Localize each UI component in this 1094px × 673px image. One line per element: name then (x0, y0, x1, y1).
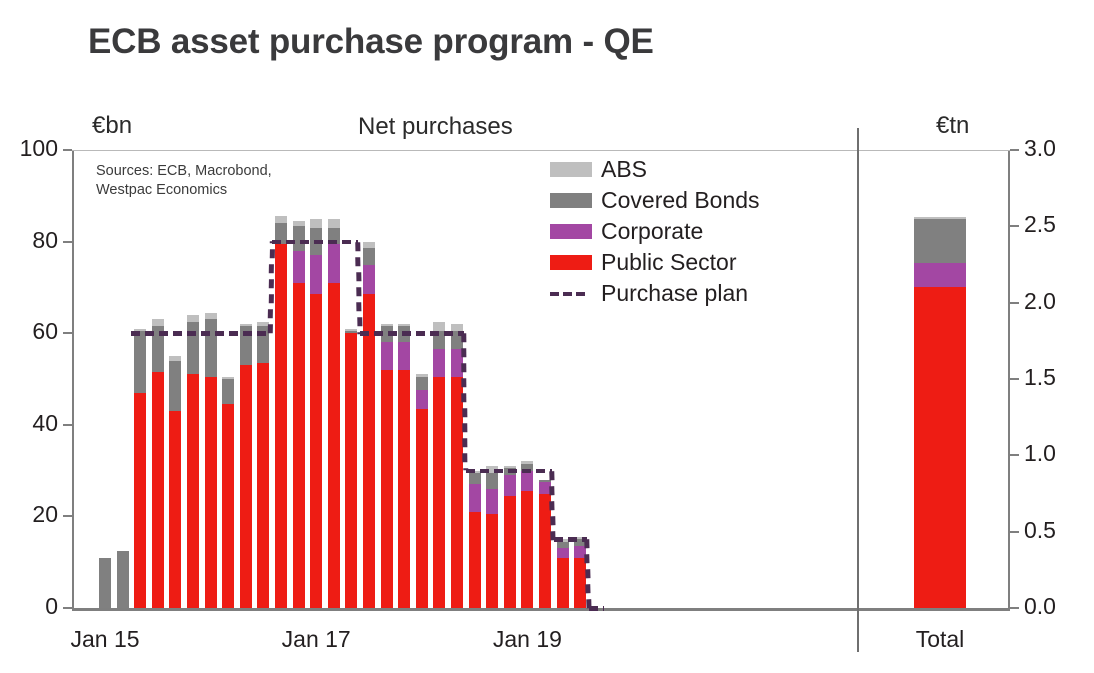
legend-item-abs: ABS (550, 154, 760, 185)
purchase-plan-dash (257, 331, 266, 336)
bar-segment-abs (222, 377, 234, 379)
bar-segment-corporate (310, 255, 322, 294)
bar-segment-corporate (293, 251, 305, 283)
bar-segment-corporate (328, 244, 340, 283)
purchase-plan-dash (173, 331, 182, 336)
bar-segment-public-sector (240, 365, 252, 608)
left-y-tick (63, 424, 72, 426)
bar-column (99, 558, 111, 608)
x-tick-label-total: Total (870, 626, 1010, 653)
bar-segment-public-sector (257, 363, 269, 608)
left-y-tick (63, 607, 72, 609)
bar-segment-public-sector (504, 496, 516, 608)
purchase-plan-dash (550, 501, 555, 510)
bar-segment-abs (363, 242, 375, 249)
bar-segment-abs (152, 319, 164, 326)
page-title: ECB asset purchase program - QE (88, 22, 654, 62)
bar-segment-abs (310, 219, 322, 228)
bar-segment-public-sector (521, 491, 533, 608)
bar-segment-covered-bonds (486, 473, 498, 489)
bar-segment-abs (187, 315, 199, 322)
bar-column (152, 319, 164, 608)
total-segment-abs (914, 217, 966, 219)
right-y-tick-label: 0.0 (1024, 593, 1084, 620)
chart-container: ECB asset purchase program - QE €bn Net … (0, 0, 1094, 673)
bar-column (539, 480, 551, 608)
bar-segment-public-sector (433, 377, 445, 608)
purchase-plan-dash (342, 240, 351, 245)
bar-column (222, 377, 234, 608)
legend-label-purchase-plan: Purchase plan (601, 282, 748, 305)
legend-item-purchase-plan: Purchase plan (550, 278, 760, 309)
right-y-tick (1010, 378, 1019, 380)
purchase-plan-dash (402, 331, 411, 336)
bar-segment-public-sector (152, 372, 164, 608)
total-segment-public-sector (914, 287, 966, 608)
purchase-plan-dash (549, 471, 554, 480)
bar-segment-abs (381, 324, 393, 326)
bar-segment-public-sector (275, 244, 287, 608)
purchase-plan-dash (568, 537, 577, 542)
bar-column (257, 322, 269, 608)
right-y-tick (1010, 149, 1019, 151)
purchase-plan-dash (268, 324, 273, 333)
left-y-tick-label: 40 (6, 410, 58, 437)
right-y-tick (1010, 454, 1019, 456)
bar-segment-corporate (469, 484, 481, 511)
purchase-plan-dash (360, 331, 369, 336)
left-y-tick (63, 515, 72, 517)
purchase-plan-dash (357, 302, 362, 311)
purchase-plan-dash (314, 240, 323, 245)
right-y-tick-label: 2.5 (1024, 211, 1084, 238)
bar-segment-covered-bonds (99, 558, 111, 608)
purchase-plan-dash (536, 469, 545, 474)
purchase-plan-dash (466, 469, 475, 474)
purchase-plan-dash (357, 317, 362, 326)
bar-column (521, 461, 533, 608)
purchase-plan-dash (586, 584, 591, 593)
bar-segment-abs (328, 219, 340, 228)
bar-segment-covered-bonds (169, 361, 181, 411)
bar-segment-corporate (398, 342, 410, 369)
bar-segment-public-sector (469, 512, 481, 608)
bar-column (275, 216, 287, 608)
purchase-plan-dash (243, 331, 252, 336)
purchase-plan-dash (272, 240, 281, 245)
purchase-plan-dash (461, 333, 466, 342)
left-axis-unit-label: €bn (92, 112, 132, 140)
bar-segment-public-sector (205, 377, 217, 608)
purchase-plan-dash (462, 348, 467, 357)
panel-divider (857, 128, 859, 652)
bar-segment-corporate (557, 548, 569, 557)
bar-segment-covered-bonds (205, 319, 217, 376)
purchase-plan-dash (444, 331, 453, 336)
purchase-plan-dash (480, 469, 489, 474)
bar-column (416, 374, 428, 608)
total-segment-covered-bonds (914, 219, 966, 263)
purchase-plan-dash (585, 554, 590, 563)
bar-column (504, 466, 516, 608)
bar-segment-public-sector (134, 393, 146, 608)
purchase-plan-dash (522, 469, 531, 474)
bar-segment-covered-bonds (134, 331, 146, 393)
left-y-tick-label: 100 (6, 135, 58, 162)
purchase-plan-dash (269, 279, 274, 288)
bar-column (433, 322, 445, 608)
purchase-plan-dash (286, 240, 295, 245)
bar-segment-abs (521, 461, 533, 463)
bar-column (557, 539, 569, 608)
bar-segment-public-sector (557, 558, 569, 608)
purchase-plan-dash (462, 378, 467, 387)
right-y-tick (1010, 531, 1019, 533)
right-y-tick (1010, 225, 1019, 227)
purchase-plan-dash (508, 469, 517, 474)
legend-item-corporate: Corporate (550, 216, 760, 247)
purchase-plan-dash (187, 331, 196, 336)
bar-segment-abs (275, 216, 287, 223)
bar-column (469, 471, 481, 608)
purchase-plan-dash (494, 469, 503, 474)
bar-column (381, 324, 393, 608)
bar-column (310, 219, 322, 608)
purchase-plan-dash (585, 539, 590, 548)
bar-segment-corporate (521, 471, 533, 492)
left-y-tick-label: 60 (6, 318, 58, 345)
purchase-plan-dash (603, 606, 605, 611)
source-note: Sources: ECB, Macrobond, Westpac Economi… (96, 162, 272, 200)
bar-segment-public-sector (451, 377, 463, 608)
left-y-tick (63, 241, 72, 243)
bar-segment-abs (293, 221, 305, 226)
right-axis-unit-label: €tn (936, 112, 969, 140)
bar-column (240, 324, 252, 608)
legend-swatch-corporate (550, 224, 592, 239)
bar-column (134, 329, 146, 608)
bar-segment-covered-bonds (469, 473, 481, 484)
purchase-plan-dash (145, 331, 154, 336)
legend-label-public-sector: Public Sector (601, 251, 737, 274)
bar-segment-abs (433, 322, 445, 331)
right-y-tick-label: 1.5 (1024, 364, 1084, 391)
right-y-tick-label: 2.0 (1024, 288, 1084, 315)
bar-column (293, 221, 305, 608)
purchase-plan-dash (300, 240, 309, 245)
left-y-tick-label: 0 (6, 593, 58, 620)
bar-segment-covered-bonds (345, 331, 357, 333)
purchase-plan-dash (357, 287, 362, 296)
purchase-plan-dash (215, 331, 224, 336)
bar-segment-abs (240, 324, 252, 326)
bar-segment-public-sector (486, 514, 498, 608)
purchase-plan-dash (159, 331, 168, 336)
purchase-plan-dash (201, 331, 210, 336)
left-y-tick-label: 80 (6, 227, 58, 254)
purchase-plan-dash (328, 240, 337, 245)
legend-swatch-public-sector (550, 255, 592, 270)
purchase-plan-dash (374, 331, 383, 336)
purchase-plan-dash (551, 516, 556, 525)
bar-column (328, 219, 340, 608)
bar-segment-public-sector (416, 409, 428, 608)
bar-segment-covered-bonds (222, 379, 234, 404)
bar-segment-covered-bonds (416, 377, 428, 391)
bar-segment-covered-bonds (117, 551, 129, 608)
purchase-plan-dash (356, 272, 361, 281)
bar-segment-abs (205, 313, 217, 320)
bar-segment-public-sector (169, 411, 181, 608)
bar-column (117, 551, 129, 608)
bar-column (363, 242, 375, 608)
bar-segment-public-sector (293, 283, 305, 608)
purchase-plan-dash (463, 438, 468, 447)
left-y-tick-label: 20 (6, 501, 58, 528)
bar-segment-abs (169, 356, 181, 361)
purchase-plan-dash (269, 249, 274, 258)
legend-label-corporate: Corporate (601, 220, 703, 243)
bar-segment-abs (451, 324, 463, 331)
legend: ABSCovered BondsCorporatePublic SectorPu… (550, 154, 760, 309)
purchase-plan-dash (462, 363, 467, 372)
bar-segment-public-sector (222, 404, 234, 608)
x-tick-label: Jan 19 (457, 626, 597, 653)
right-y-tick-label: 0.5 (1024, 517, 1084, 544)
bar-segment-covered-bonds (557, 542, 569, 549)
legend-swatch-covered-bonds (550, 193, 592, 208)
purchase-plan-dash (463, 453, 468, 462)
bar-segment-public-sector (345, 333, 357, 608)
bar-column (486, 466, 498, 608)
bar-segment-public-sector (381, 370, 393, 608)
left-y-tick (63, 332, 72, 334)
right-y-tick-label: 1.0 (1024, 440, 1084, 467)
legend-label-covered-bonds: Covered Bonds (601, 189, 760, 212)
bar-segment-public-sector (574, 558, 586, 608)
right-y-tick (1010, 607, 1019, 609)
bar-column (398, 324, 410, 608)
left-y-tick (63, 149, 72, 151)
x-axis-line (72, 608, 1010, 611)
purchase-plan-dash (388, 331, 397, 336)
legend-label-abs: ABS (601, 158, 647, 181)
bar-column (205, 313, 217, 608)
legend-item-public-sector: Public Sector (550, 247, 760, 278)
bar-segment-corporate (381, 342, 393, 369)
purchase-plan-legend-icon (550, 286, 592, 301)
x-tick-label: Jan 15 (35, 626, 175, 653)
purchase-plan-dash (550, 486, 555, 495)
purchase-plan-dash (589, 606, 598, 611)
right-y-tick-label: 3.0 (1024, 135, 1084, 162)
purchase-plan-dash (356, 242, 361, 251)
bar-column (187, 315, 199, 608)
bar-segment-corporate (416, 390, 428, 408)
bar-segment-public-sector (310, 294, 322, 608)
bar-segment-public-sector (363, 294, 375, 608)
purchase-plan-dash (462, 393, 467, 402)
right-y-tick (1010, 302, 1019, 304)
bar-segment-public-sector (398, 370, 410, 608)
purchase-plan-dash (462, 408, 467, 417)
purchase-plan-dash (356, 257, 361, 266)
purchase-plan-dash (463, 423, 468, 432)
plot-top-border (72, 150, 1010, 151)
legend-item-covered-bonds: Covered Bonds (550, 185, 760, 216)
bar-segment-corporate (433, 349, 445, 376)
purchase-plan-dash (268, 294, 273, 303)
total-bar (914, 217, 966, 608)
bar-column (345, 329, 357, 608)
bar-segment-corporate (486, 489, 498, 514)
purchase-plan-dash (416, 331, 425, 336)
purchase-plan-dash (585, 569, 590, 578)
bar-segment-abs (398, 324, 410, 326)
bar-segment-corporate (363, 265, 375, 295)
purchase-plan-dash (229, 331, 238, 336)
legend-swatch-abs (550, 162, 592, 177)
x-tick-label: Jan 17 (246, 626, 386, 653)
bar-segment-public-sector (539, 494, 551, 609)
purchase-plan-dash (131, 331, 140, 336)
total-segment-corporate (914, 263, 966, 287)
purchase-plan-dash (269, 264, 274, 273)
bar-segment-covered-bonds (187, 322, 199, 375)
bar-segment-covered-bonds (363, 248, 375, 264)
bar-segment-corporate (504, 475, 516, 496)
bar-column (169, 356, 181, 608)
left-panel-title: Net purchases (358, 113, 513, 141)
bar-segment-public-sector (187, 374, 199, 608)
bar-segment-public-sector (328, 283, 340, 608)
purchase-plan-dash (268, 309, 273, 318)
purchase-plan-dash (554, 537, 563, 542)
bar-segment-covered-bonds (293, 226, 305, 251)
bar-segment-abs (416, 374, 428, 376)
bar-segment-abs (345, 329, 357, 331)
purchase-plan-dash (430, 331, 439, 336)
left-y-axis-line (72, 150, 74, 609)
